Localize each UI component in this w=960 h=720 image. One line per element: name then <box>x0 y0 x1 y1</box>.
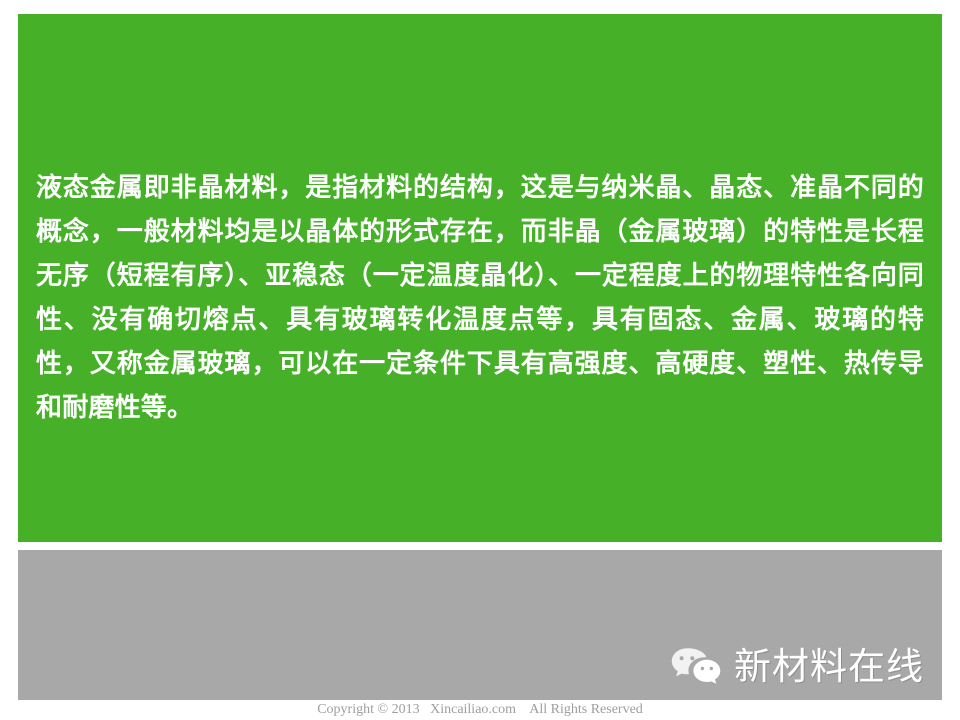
green-content-panel: 液态金属即非晶材料，是指材料的结构，这是与纳米晶、晶态、准晶不同的概念，一般材料… <box>18 14 942 542</box>
copyright-text: Copyright © 2013 Xincailiao.com All Righ… <box>317 701 643 719</box>
brand-name-label: 新材料在线 <box>734 646 924 688</box>
wechat-icon <box>670 646 722 688</box>
body-paragraph: 液态金属即非晶材料，是指材料的结构，这是与纳米晶、晶态、准晶不同的概念，一般材料… <box>36 166 924 430</box>
copyright-bar: Copyright © 2013 Xincailiao.com All Righ… <box>0 700 960 720</box>
gray-footer-panel: 新材料在线 <box>18 550 942 700</box>
brand-block: 新材料在线 <box>670 646 924 688</box>
slide-canvas: 液态金属即非晶材料，是指材料的结构，这是与纳米晶、晶态、准晶不同的概念，一般材料… <box>0 0 960 720</box>
